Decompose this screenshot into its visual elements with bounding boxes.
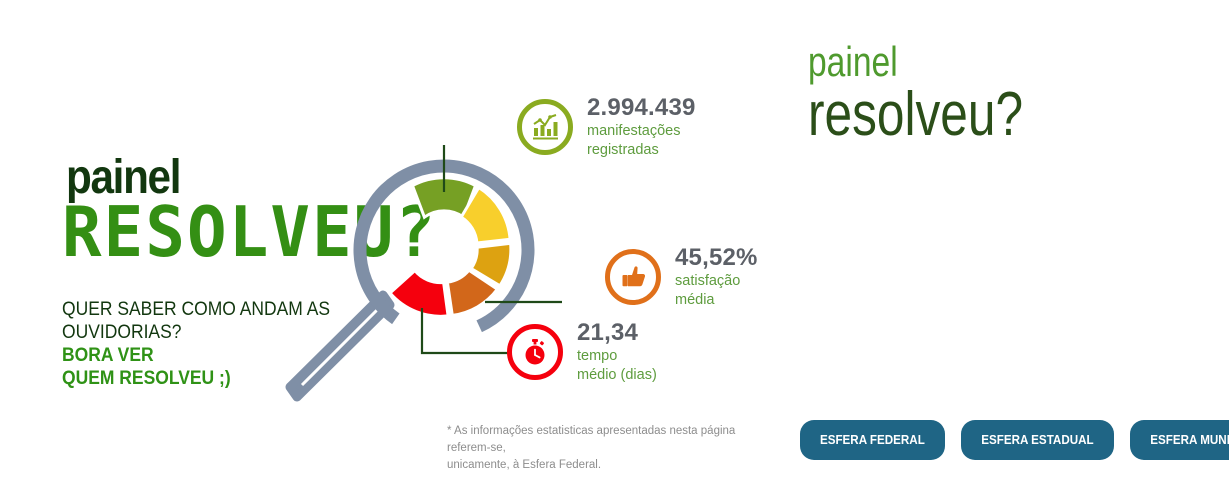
esfera-estadual-button[interactable]: ESFERA ESTADUAL [961,420,1114,460]
esfera-estadual-label: ESFERA ESTADUAL [981,433,1093,447]
stat-satisfacao-label-2: média [675,292,758,309]
stat-satisfacao-label-1: satisfação [675,273,758,290]
thumbs-up-icon [618,262,648,292]
bar-chart-icon-ring [517,99,573,155]
stat-manifestacoes-label-2: registradas [587,142,696,159]
stopwatch-icon [520,337,550,367]
footnote: * As informações estatisticas apresentad… [447,423,777,474]
footnote-line-1: * As informações estatisticas apresentad… [447,423,777,457]
stat-satisfacao-value: 45,52% [675,245,758,271]
stat-tempo-text: 21,34 tempo médio (dias) [577,320,657,384]
bar-chart-icon [530,112,560,142]
stat-manifestacoes: 2.994.439 manifestações registradas [517,95,696,159]
stat-manifestacoes-text: 2.994.439 manifestações registradas [587,95,696,159]
esfera-button-row: ESFERA FEDERAL ESFERA ESTADUAL ESFERA MU… [800,420,1229,460]
esfera-federal-label: ESFERA FEDERAL [820,433,925,447]
footnote-line-2: unicamente, à Esfera Federal. [447,457,777,474]
brand-right-resolveu: resolveu? [808,84,1023,146]
thumbs-up-icon-ring [605,249,661,305]
stat-tempo: 21,34 tempo médio (dias) [507,320,657,384]
stat-manifestacoes-value: 2.994.439 [587,95,696,121]
brand-right: painel resolveu? [808,42,1077,146]
donut-segment-vermelho [390,271,448,317]
stat-satisfacao-text: 45,52% satisfação média [675,245,758,309]
page-root: painel RESOLVEU? QUER SABER COMO ANDAM A… [0,0,1229,500]
stat-tempo-label-2: médio (dias) [577,367,657,384]
esfera-municipal-label: ESFERA MUNICIPAL [1150,433,1229,447]
stat-tempo-value: 21,34 [577,320,657,346]
stat-satisfacao: 45,52% satisfação média [605,245,758,309]
esfera-municipal-button[interactable]: ESFERA MUNICIPAL [1130,420,1229,460]
stat-manifestacoes-label-1: manifestações [587,123,696,140]
brand-right-painel: painel [808,42,1023,82]
stopwatch-icon-ring [507,324,563,380]
magnifier-handle-icon [290,295,390,397]
donut-chart [390,178,511,317]
esfera-federal-button[interactable]: ESFERA FEDERAL [800,420,945,460]
stat-tempo-label-1: tempo [577,348,657,365]
